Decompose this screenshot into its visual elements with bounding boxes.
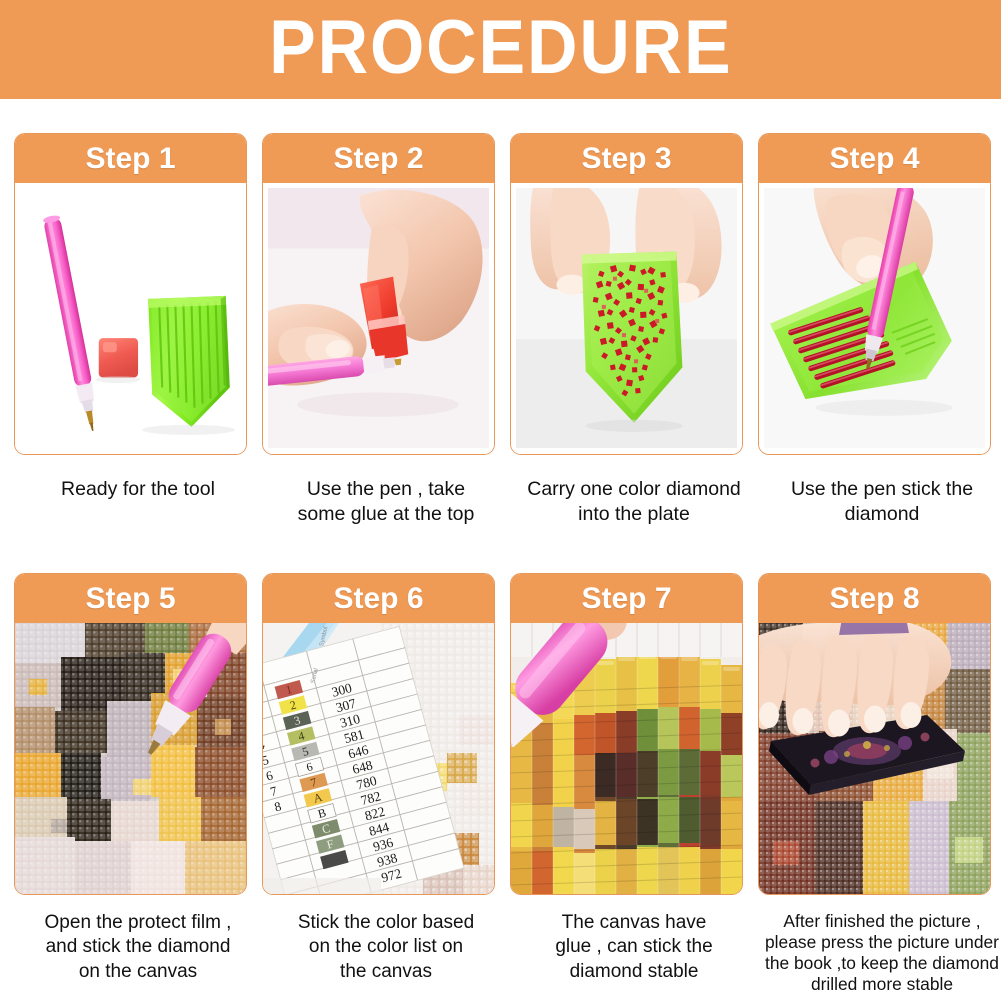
step-photo-3 [511,183,742,454]
step-caption-8: After finished the picture , please pres… [758,911,1001,995]
step-card-8[interactable]: Step 8 [758,573,991,895]
step-header-label-7: Step 7 [581,584,671,614]
hands-pouring-drills-illustration [516,188,737,448]
step-photo-6: Serial Symbol DMC [263,623,494,894]
drills-macro-illustration [511,623,742,894]
step-header-label-2: Step 2 [333,144,423,174]
step-header-label-1: Step 1 [85,144,175,174]
step-header-7: Step 7 [511,574,742,623]
step-header-label-6: Step 6 [333,584,423,614]
step-photo-5 [15,623,246,894]
step-cell-7: Step 7 [510,573,758,984]
step-header-2: Step 2 [263,134,494,183]
canvas-closeup-illustration [15,623,246,894]
step-card-6[interactable]: Step 6 [262,573,495,895]
step-caption-7: The canvas have glue , can stick the dia… [510,911,758,984]
glue-square-icon [99,338,138,377]
step-photo-2 [263,183,494,454]
step-header-label-8: Step 8 [829,584,919,614]
procedure-infographic: PROCEDURE Step 1 [0,0,1001,1001]
step-cell-1: Step 1 [14,133,262,502]
step-caption-1: Ready for the tool [14,477,262,502]
step-photo-4 [759,183,990,454]
step-photo-7 [511,623,742,894]
step-cell-5: Step 5 [14,573,262,984]
step-photo-1 [15,183,246,454]
step-caption-3: Carry one color diamond into the plate [510,477,758,527]
step-card-7[interactable]: Step 7 [510,573,743,895]
step-header-1: Step 1 [15,134,246,183]
step-header-6: Step 6 [263,574,494,623]
step-header-label-4: Step 4 [829,144,919,174]
step-header-label-5: Step 5 [85,584,175,614]
step-header-label-3: Step 3 [581,144,671,174]
step-cell-4: Step 4 [758,133,1001,527]
step-header-3: Step 3 [511,134,742,183]
step-card-2[interactable]: Step 2 [262,133,495,455]
step-caption-2: Use the pen , take some glue at the top [262,477,510,527]
step-caption-5: Open the protect film , and stick the di… [14,911,262,984]
step-card-5[interactable]: Step 5 [14,573,247,895]
step-header-4: Step 4 [759,134,990,183]
step-cell-2: Step 2 [262,133,510,527]
step-card-4[interactable]: Step 4 [758,133,991,455]
step-cell-3: Step 3 [510,133,758,527]
step-card-1[interactable]: Step 1 [14,133,247,455]
step-caption-4: Use the pen stick the diamond [758,477,1001,527]
hands-pen-taking-glue-illustration [268,188,489,448]
color-chart-illustration: Serial Symbol DMC [263,623,494,894]
step-header-8: Step 8 [759,574,990,623]
step-caption-6: Stick the color based on the color list … [262,911,510,984]
page-banner: PROCEDURE [0,0,1001,99]
pressing-book-illustration [759,623,990,894]
tools-pen-glue-tray-illustration [20,188,241,448]
step-cell-6: Step 6 [262,573,510,984]
page-title: PROCEDURE [269,10,732,90]
step-header-5: Step 5 [15,574,246,623]
step-photo-8 [759,623,990,894]
step-cell-8: Step 8 [758,573,1001,995]
pen-picking-drill-illustration [764,188,985,448]
step-card-3[interactable]: Step 3 [510,133,743,455]
